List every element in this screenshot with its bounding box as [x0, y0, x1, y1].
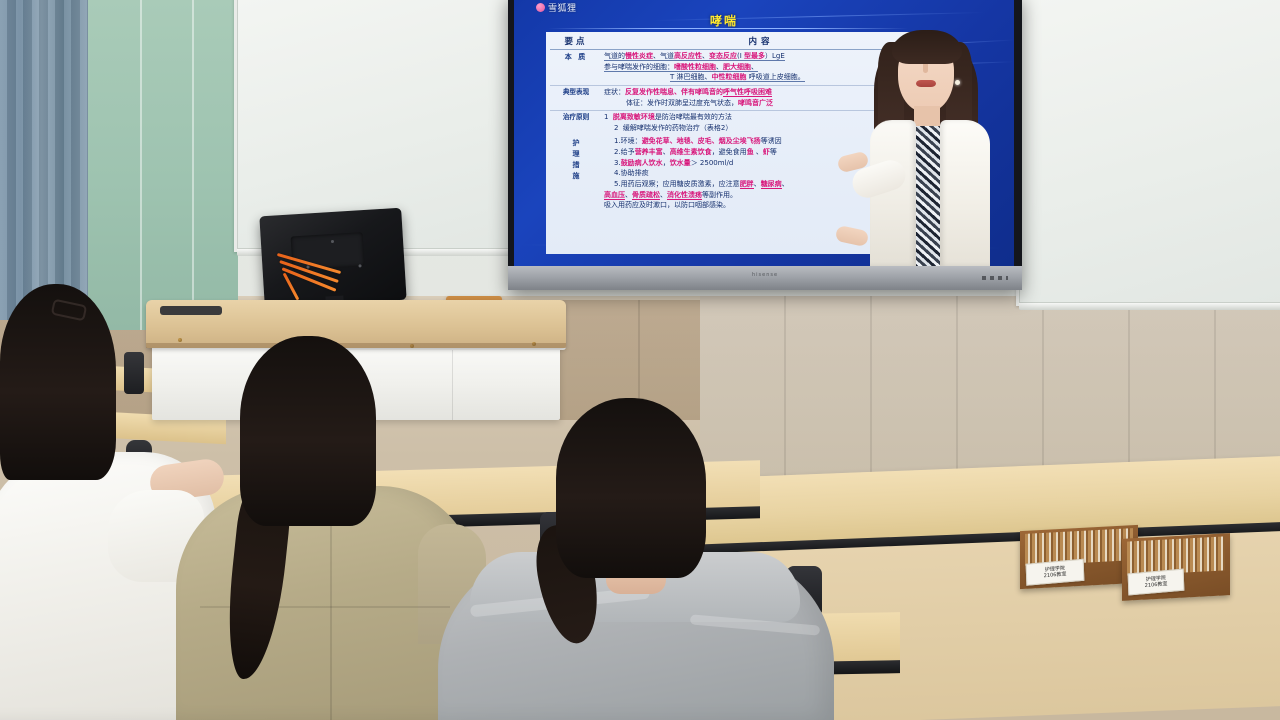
card-tray[interactable]: 护理学院 2106教室: [1122, 533, 1230, 601]
window-curtain: [0, 0, 92, 320]
tray-label: 护理学院 2106教室: [1026, 559, 1085, 586]
row-label: 治疗原则: [550, 111, 602, 135]
watermark-text: 雪狐狸: [548, 1, 577, 14]
column-header-key: 要点: [550, 35, 602, 47]
panel-screen[interactable]: 雪狐狸 哮喘 要点 内容 本 质 气道的慢性炎症、气道高反应性、变态反应(I 型…: [514, 0, 1014, 266]
tray-label-line2: 2106教室: [1145, 581, 1168, 589]
green-wall-panel: [88, 0, 238, 330]
card-tray[interactable]: 护理学院 2106教室: [1020, 525, 1138, 589]
panel-ir-sensor: [982, 276, 1008, 280]
classroom-scene: 雪狐狸 哮喘 要点 内容 本 质 气道的慢性炎症、气道高反应性、变态反应(I 型…: [0, 0, 1280, 720]
pink-circle-logo-icon: [536, 3, 545, 12]
row-label: 典型表现: [550, 86, 602, 110]
interactive-flat-panel[interactable]: 雪狐狸 哮喘 要点 内容 本 质 气道的慢性炎症、气道高反应性、变态反应(I 型…: [508, 0, 1022, 290]
podium-cable-slot: [160, 306, 222, 315]
presenter-hair-front: [892, 30, 962, 64]
row-label: 护理措施: [550, 135, 602, 212]
watermark: 雪狐狸: [536, 1, 577, 14]
student-middle-jacket-seam: [330, 520, 332, 720]
row-label: 本 质: [550, 50, 602, 85]
podium-desktop[interactable]: [146, 300, 566, 348]
orange-cable-bundle: [276, 258, 350, 294]
presenter-figure: [852, 16, 1004, 266]
whiteboard-right: [1016, 0, 1280, 306]
tray-label-line2: 2106教室: [1044, 571, 1067, 579]
panel-brand-mark: hisense: [752, 272, 778, 278]
tray-label: 护理学院 2106教室: [1128, 569, 1185, 596]
left-chair-post: [124, 352, 144, 394]
student-middle-hair: [240, 336, 376, 526]
student-right-hair: [556, 398, 706, 578]
panel-bottom-bezel: hisense: [508, 266, 1022, 290]
presenter-earring: [955, 80, 960, 85]
presenter-mouth: [916, 80, 936, 87]
presenter-cardigan-right: [940, 120, 990, 266]
